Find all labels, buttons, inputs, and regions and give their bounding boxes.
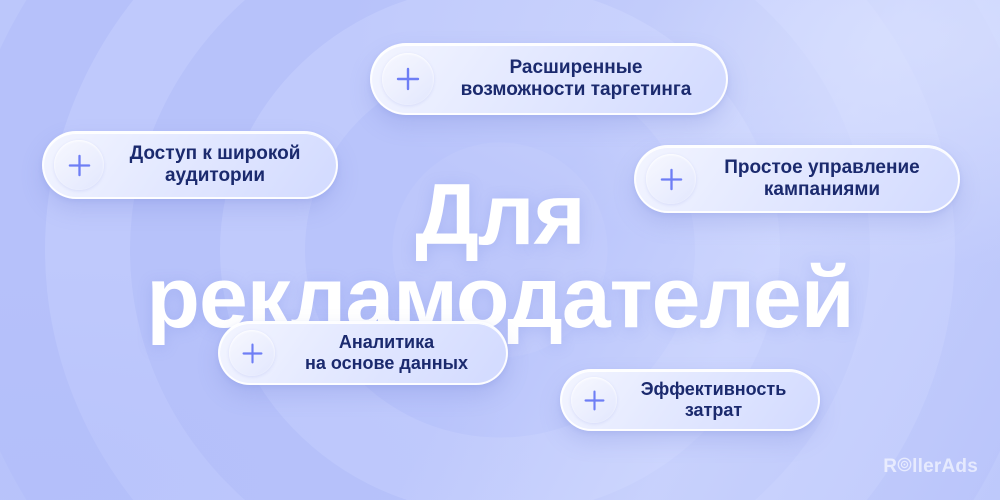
advertisers-promo-banner: Для рекламодателей Расширенные возможнос…: [0, 0, 1000, 500]
feature-pill-targeting[interactable]: Расширенные возможности таргетинга: [370, 43, 728, 115]
feature-pill-campaigns[interactable]: Простое управление кампаниями: [634, 145, 960, 213]
plus-icon: [571, 377, 617, 423]
feature-pill-label: Простое управление кампаниями: [702, 157, 942, 202]
plus-icon: [229, 330, 275, 376]
plus-icon: [54, 140, 104, 190]
logo-text-before: R: [883, 456, 897, 478]
feature-pill-label: Расширенные возможности таргетинга: [442, 57, 710, 102]
feature-pill-label: Эффективность затрат: [623, 379, 804, 421]
feature-pill-cost[interactable]: Эффективность затрат: [560, 369, 820, 431]
target-icon: [897, 456, 912, 478]
feature-pill-analytics[interactable]: Аналитика на основе данных: [218, 321, 508, 385]
rollerads-logo[interactable]: R llerAds: [883, 456, 978, 478]
plus-icon: [382, 53, 434, 105]
plus-icon: [646, 154, 696, 204]
feature-pill-audience[interactable]: Доступ к широкой аудитории: [42, 131, 338, 199]
feature-pill-label: Доступ к широкой аудитории: [110, 143, 320, 188]
logo-text-after: llerAds: [912, 456, 978, 478]
feature-pill-label: Аналитика на основе данных: [281, 332, 492, 374]
